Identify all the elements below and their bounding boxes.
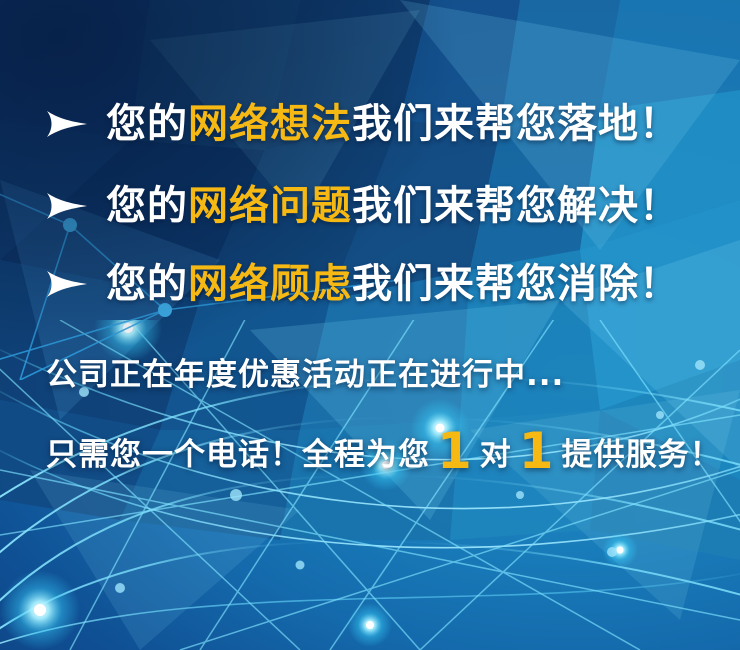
bullet-prefix-3: 您的 — [106, 261, 188, 307]
arrow-right-icon — [44, 107, 90, 141]
bullet-suffix-3: 我们来帮您消除！ — [352, 261, 680, 307]
bullet-suffix-1: 我们来帮您落地！ — [352, 101, 680, 147]
bullet-accent-1: 网络想法 — [188, 101, 352, 147]
promo-line: 公司正在年度优惠活动正在进行中... — [46, 360, 564, 391]
bullet-prefix-1: 您的 — [106, 101, 188, 147]
bullet-accent-2: 网络问题 — [188, 183, 352, 229]
arrow-right-icon — [44, 189, 90, 223]
service-line: 只需您一个电话！全程为您 1 对 1 提供服务！ — [46, 428, 722, 471]
service-number-2: 1 — [512, 431, 562, 471]
bullet-text-3: 您的网络顾虑我们来帮您消除！ — [106, 264, 680, 304]
bullet-text-1: 您的网络想法我们来帮您落地！ — [106, 104, 680, 144]
bullet-accent-3: 网络顾虑 — [188, 261, 352, 307]
bullet-suffix-2: 我们来帮您解决！ — [352, 183, 680, 229]
banner-content: 您的网络想法我们来帮您落地！ 您的网络问题我们来帮您解决！ 您的网络顾虑我们来帮… — [0, 0, 740, 650]
promo-banner: 您的网络想法我们来帮您落地！ 您的网络问题我们来帮您解决！ 您的网络顾虑我们来帮… — [0, 0, 740, 650]
service-line-part3: 提供服务！ — [562, 440, 722, 471]
arrow-right-icon — [44, 267, 90, 301]
bullet-item-3: 您的网络顾虑我们来帮您消除！ — [44, 264, 680, 304]
bullet-prefix-2: 您的 — [106, 183, 188, 229]
bullet-text-2: 您的网络问题我们来帮您解决！ — [106, 186, 680, 226]
service-line-part2: 对 — [480, 440, 512, 471]
bullet-item-2: 您的网络问题我们来帮您解决！ — [44, 186, 680, 226]
service-line-part1: 只需您一个电话！全程为您 — [46, 440, 430, 471]
bullet-item-1: 您的网络想法我们来帮您落地！ — [44, 104, 680, 144]
service-number-1: 1 — [430, 431, 480, 471]
